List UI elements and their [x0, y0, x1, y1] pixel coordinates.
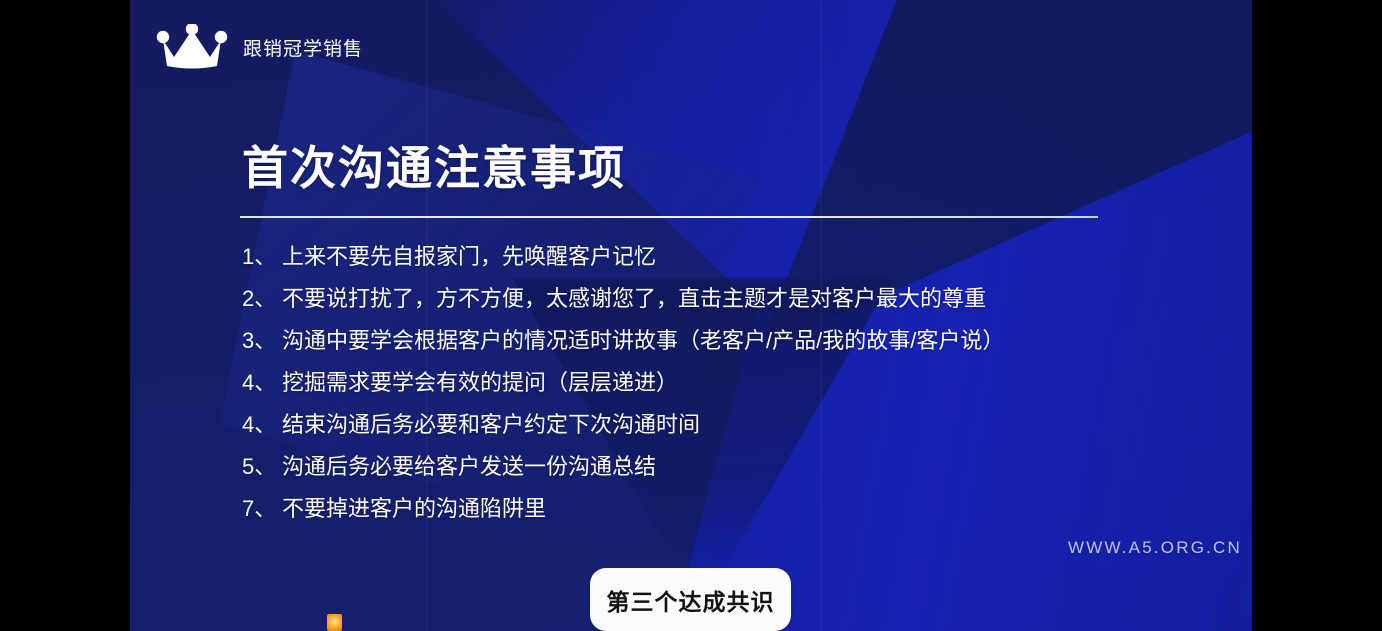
crown-icon — [155, 24, 229, 70]
slide-title: 首次沟通注意事项 — [242, 132, 626, 198]
corner-badge-icon — [327, 614, 342, 631]
list-item-text: 不要说打扰了，方不方便，太感谢您了，直击主题才是对客户最大的尊重 — [282, 278, 986, 320]
list-item-number: 4、 — [242, 362, 282, 404]
list-item: 2、 不要说打扰了，方不方便，太感谢您了，直击主题才是对客户最大的尊重 — [242, 278, 1202, 320]
list-item-number: 2、 — [242, 278, 282, 320]
list-item: 1、 上来不要先自报家门，先唤醒客户记忆 — [242, 236, 1202, 278]
section-label-text: 第三个达成共识 — [607, 583, 775, 617]
letterbox-bar-right — [1252, 0, 1382, 631]
presentation-slide: 跟销冠学销售 首次沟通注意事项 1、 上来不要先自报家门，先唤醒客户记忆 2、 … — [130, 0, 1252, 631]
letterbox-bar-left — [0, 0, 130, 631]
brand-logo: 跟销冠学销售 — [155, 24, 363, 70]
list-item-number: 7、 — [242, 488, 282, 530]
list-item: 5、 沟通后务必要给客户发送一份沟通总结 — [242, 446, 1202, 488]
section-label-pill: 第三个达成共识 — [590, 568, 791, 631]
list-item-number: 4、 — [242, 404, 282, 446]
watermark: WWW.A5.ORG.CN — [1068, 538, 1242, 558]
list-item-text: 结束沟通后务必要和客户约定下次沟通时间 — [282, 404, 700, 446]
list-item: 3、 沟通中要学会根据客户的情况适时讲故事（老客户/产品/我的故事/客户说） — [242, 320, 1202, 362]
video-player-viewport: 跟销冠学销售 首次沟通注意事项 1、 上来不要先自报家门，先唤醒客户记忆 2、 … — [0, 0, 1382, 631]
title-divider — [240, 216, 1098, 218]
list-item-number: 3、 — [242, 320, 282, 362]
list-item: 4、 结束沟通后务必要和客户约定下次沟通时间 — [242, 404, 1202, 446]
list-item-text: 上来不要先自报家门，先唤醒客户记忆 — [282, 236, 656, 278]
list-item-text: 不要掉进客户的沟通陷阱里 — [282, 488, 546, 530]
brand-name: 跟销冠学销售 — [243, 34, 363, 61]
list-item-number: 5、 — [242, 446, 282, 488]
bullet-list: 1、 上来不要先自报家门，先唤醒客户记忆 2、 不要说打扰了，方不方便，太感谢您… — [242, 236, 1202, 530]
list-item-text: 沟通中要学会根据客户的情况适时讲故事（老客户/产品/我的故事/客户说） — [282, 320, 1004, 362]
list-item-number: 1、 — [242, 236, 282, 278]
list-item-text: 沟通后务必要给客户发送一份沟通总结 — [282, 446, 656, 488]
list-item-text: 挖掘需求要学会有效的提问（层层递进） — [282, 362, 678, 404]
list-item: 4、 挖掘需求要学会有效的提问（层层递进） — [242, 362, 1202, 404]
list-item: 7、 不要掉进客户的沟通陷阱里 — [242, 488, 1202, 530]
